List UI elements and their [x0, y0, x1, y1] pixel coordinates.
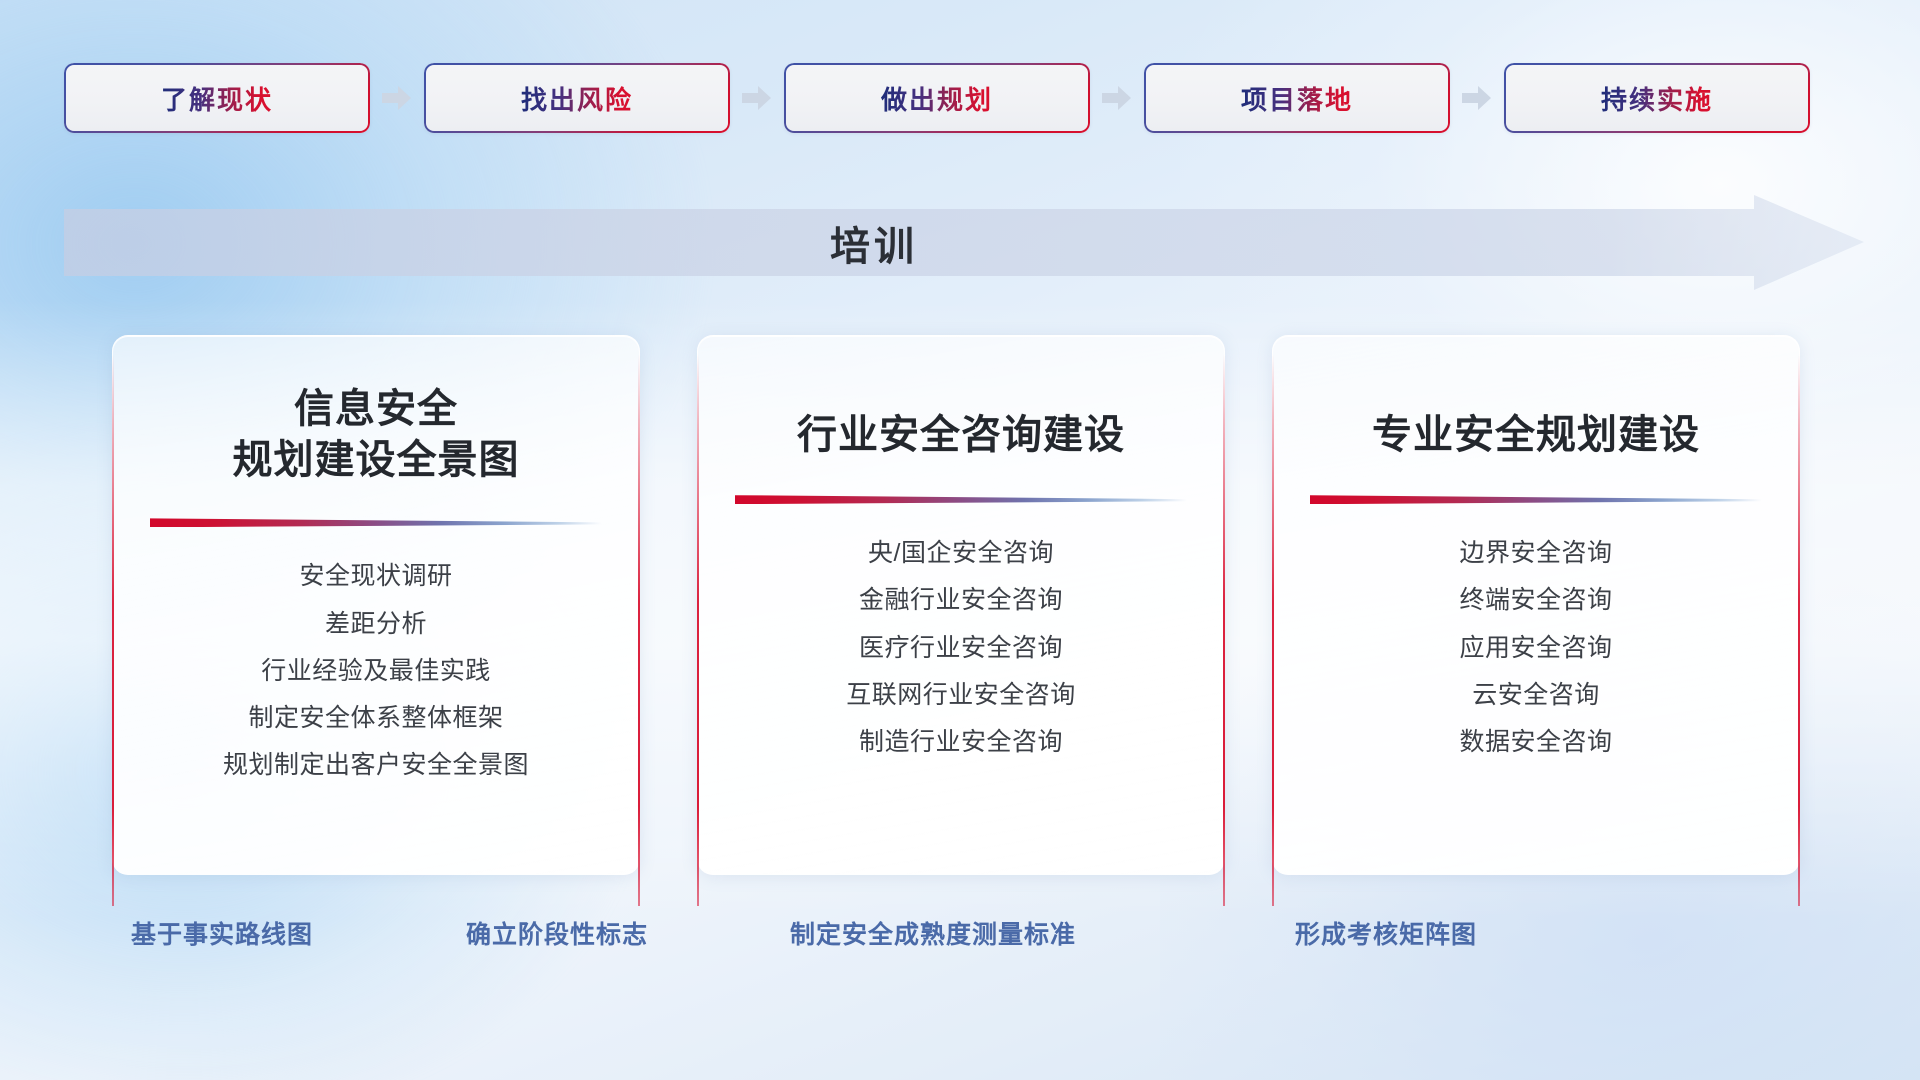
card-inner: 专业安全规划建设 边界安全咨询 终端安全咨询 应用安全咨询 云安全咨询 数据安全…: [1273, 336, 1799, 874]
bottom-label-fact-roadmap: 基于事实路线图: [131, 915, 313, 951]
bottom-label-assessment-matrix: 形成考核矩阵图: [1295, 915, 1477, 951]
list-item: 应用安全咨询: [1459, 633, 1612, 664]
card-title-line-1: 信息安全: [137, 384, 615, 435]
step-box-identify-risk[interactable]: 找出风险: [424, 63, 730, 133]
list-item: 规划制定出客户安全全景图: [223, 750, 529, 781]
card-industry-consulting[interactable]: 行业安全咨询建设 央/国企安全咨询 金融行业安全咨询 医疗行业安全咨询 互联网行…: [697, 335, 1225, 875]
list-item: 互联网行业安全咨询: [846, 680, 1076, 711]
training-banner-title: 培训: [64, 195, 1684, 290]
card-security-panorama[interactable]: 信息安全 规划建设全景图 安全现状调研 差距分析 行业经验及最佳实践 制定安全体…: [112, 335, 640, 875]
step-box-continuous-implementation[interactable]: 持续实施: [1504, 63, 1810, 133]
list-item: 云安全咨询: [1472, 680, 1600, 711]
list-item: 行业经验及最佳实践: [261, 656, 491, 687]
list-item: 差距分析: [325, 609, 427, 640]
card-title: 专业安全规划建设: [1273, 410, 1799, 461]
process-step-flow: 了解现状 找出风险 做出规划 项目落地: [64, 63, 1854, 133]
list-item: 安全现状调研: [299, 561, 452, 592]
step-label: 持续实施: [1601, 80, 1713, 117]
list-item: 金融行业安全咨询: [859, 585, 1063, 616]
card-divider: [1310, 493, 1762, 504]
step-box-make-plan[interactable]: 做出规划: [784, 63, 1090, 133]
step-box-project-landing[interactable]: 项目落地: [1144, 63, 1450, 133]
step-wrapper-4: 持续实施: [1504, 63, 1810, 133]
step-wrapper-1: 找出风险: [424, 63, 784, 133]
card-title-line-1: 专业安全规划建设: [1297, 410, 1775, 461]
step-wrapper-0: 了解现状: [64, 63, 424, 133]
card-title: 信息安全 规划建设全景图: [113, 384, 639, 486]
bottom-label-stage-milestone: 确立阶段性标志: [466, 915, 648, 951]
card-item-list: 央/国企安全咨询 金融行业安全咨询 医疗行业安全咨询 互联网行业安全咨询 制造行…: [698, 538, 1224, 758]
card-inner: 信息安全 规划建设全景图 安全现状调研 差距分析 行业经验及最佳实践 制定安全体…: [113, 336, 639, 874]
card-title-line-2: 规划建设全景图: [137, 435, 615, 486]
step-wrapper-2: 做出规划: [784, 63, 1144, 133]
list-item: 医疗行业安全咨询: [859, 633, 1063, 664]
card-item-list: 安全现状调研 差距分析 行业经验及最佳实践 制定安全体系整体框架 规划制定出客户…: [113, 561, 639, 781]
list-item: 央/国企安全咨询: [868, 538, 1054, 569]
card-divider: [150, 516, 602, 527]
arrow-right-icon: [730, 63, 784, 133]
arrow-right-icon: [1450, 63, 1504, 133]
list-item: 制定安全体系整体框架: [248, 703, 503, 734]
list-item: 边界安全咨询: [1459, 538, 1612, 569]
step-box-understand-status[interactable]: 了解现状: [64, 63, 370, 133]
arrow-right-icon: [370, 63, 424, 133]
bottom-label-row: 基于事实路线图 确立阶段性标志 制定安全成熟度测量标准 形成考核矩阵图: [0, 915, 1920, 965]
card-inner: 行业安全咨询建设 央/国企安全咨询 金融行业安全咨询 医疗行业安全咨询 互联网行…: [698, 336, 1224, 874]
step-wrapper-3: 项目落地: [1144, 63, 1504, 133]
list-item: 终端安全咨询: [1459, 585, 1612, 616]
bottom-label-maturity-standard: 制定安全成熟度测量标准: [790, 915, 1076, 951]
arrow-right-icon: [1090, 63, 1144, 133]
card-title: 行业安全咨询建设: [698, 410, 1224, 461]
card-title-line-1: 行业安全咨询建设: [722, 410, 1200, 461]
card-divider: [735, 493, 1187, 504]
step-label: 项目落地: [1241, 80, 1353, 117]
step-label: 找出风险: [521, 80, 633, 117]
step-label: 了解现状: [161, 80, 273, 117]
step-label: 做出规划: [881, 80, 993, 117]
card-group: 信息安全 规划建设全景图 安全现状调研 差距分析 行业经验及最佳实践 制定安全体…: [0, 335, 1920, 875]
list-item: 数据安全咨询: [1459, 727, 1612, 758]
card-professional-planning[interactable]: 专业安全规划建设 边界安全咨询 终端安全咨询 应用安全咨询 云安全咨询 数据安全…: [1272, 335, 1800, 875]
card-item-list: 边界安全咨询 终端安全咨询 应用安全咨询 云安全咨询 数据安全咨询: [1273, 538, 1799, 758]
training-banner: 培训: [64, 195, 1864, 290]
list-item: 制造行业安全咨询: [859, 727, 1063, 758]
